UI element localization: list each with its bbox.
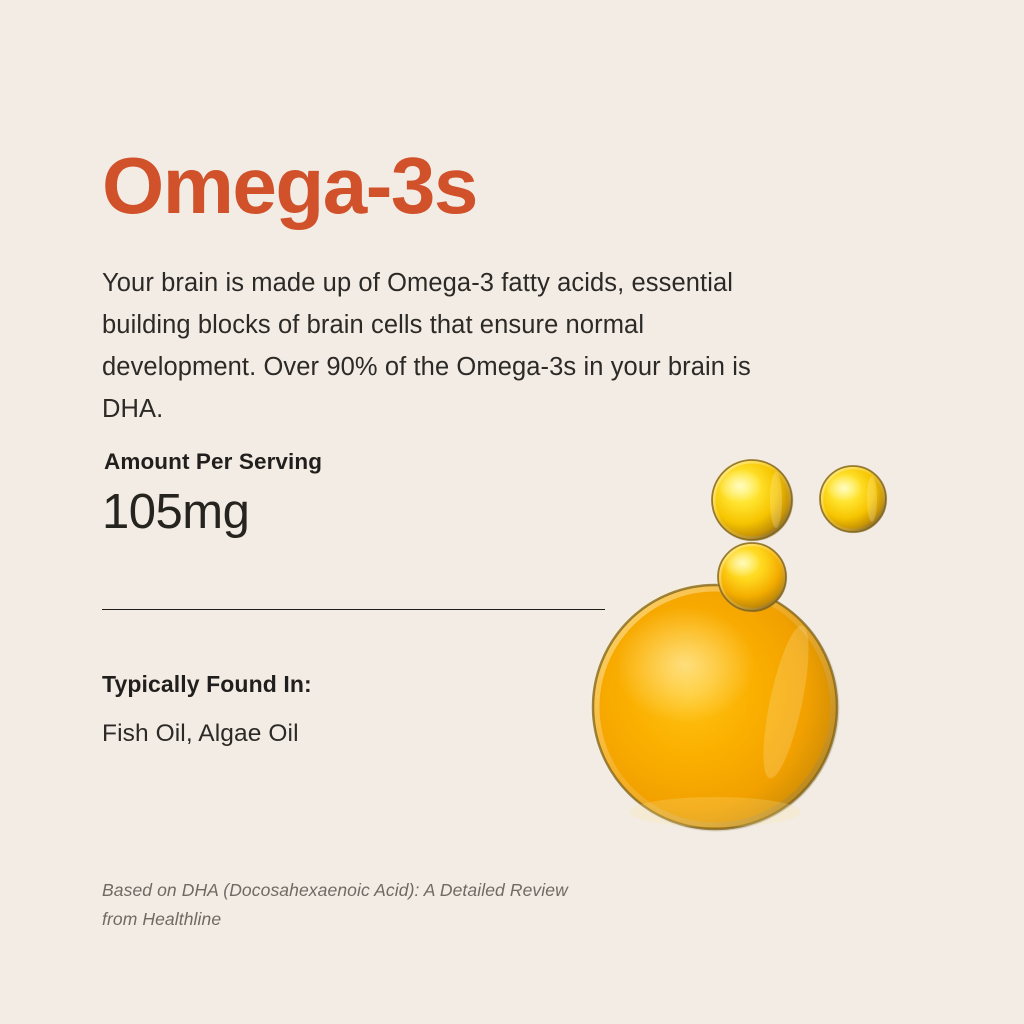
section-divider (102, 609, 605, 610)
oil-droplets-illustration (590, 440, 920, 840)
page-title: Omega-3s (102, 146, 477, 226)
source-note: Based on DHA (Docosahexaenoic Acid): A D… (102, 876, 572, 934)
amount-per-serving-label: Amount Per Serving (104, 447, 622, 476)
droplet-middle-icon (718, 543, 786, 611)
droplet-top-icon (712, 460, 792, 540)
droplet-right-icon (820, 466, 886, 532)
nutrient-info-card: Omega-3s Your brain is made up of Omega-… (0, 0, 1024, 1024)
nutrient-description: Your brain is made up of Omega-3 fatty a… (102, 262, 802, 430)
amount-per-serving-value: 105mg (102, 482, 622, 543)
typically-found-in-label: Typically Found In: (102, 670, 622, 700)
typically-found-in-value: Fish Oil, Algae Oil (102, 718, 622, 750)
amount-per-serving-section: Amount Per Serving 105mg (102, 447, 622, 544)
droplet-large-icon (593, 585, 837, 829)
typically-found-in-section: Typically Found In: Fish Oil, Algae Oil (102, 670, 622, 750)
